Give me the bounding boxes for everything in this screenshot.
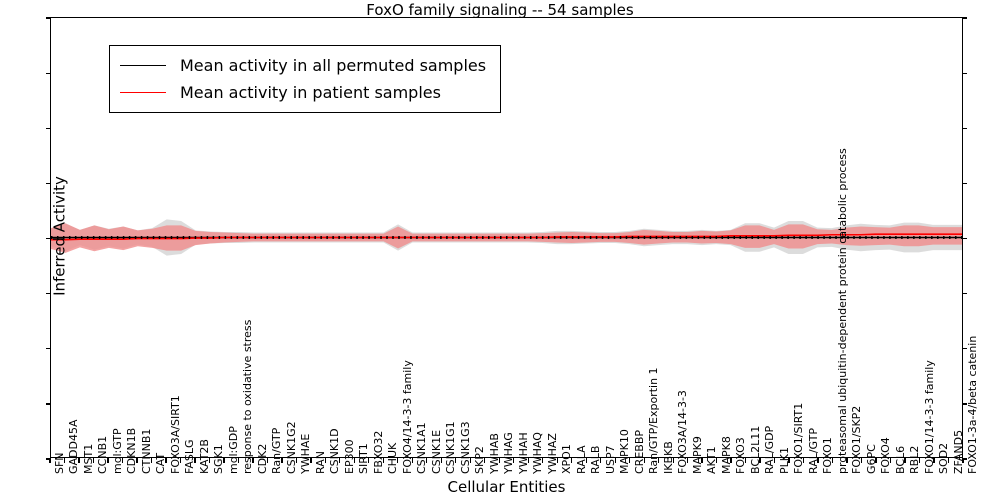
x-tick-label: CSNK1G1 — [445, 421, 456, 474]
legend-label-permuted: Mean activity in all permuted samples — [180, 56, 486, 75]
x-tick-label: YWHAH — [518, 432, 529, 474]
x-tick-mark — [557, 458, 558, 463]
x-tick-mark — [730, 458, 731, 463]
x-tick-mark — [817, 458, 818, 463]
x-tick-mark — [93, 458, 94, 463]
x-tick-mark — [499, 458, 500, 463]
x-tick-mark — [673, 458, 674, 463]
x-tick-label: YWHAG — [503, 432, 514, 474]
x-tick-mark — [788, 458, 789, 463]
x-tick-mark — [136, 458, 137, 463]
x-tick-mark — [209, 458, 210, 463]
x-tick-mark — [310, 458, 311, 463]
x-tick-label: FASLG — [184, 440, 195, 474]
x-tick-label: CSNK1G3 — [460, 421, 471, 474]
x-tick-mark — [426, 458, 427, 463]
x-tick-mark — [325, 458, 326, 463]
x-tick-label: MAPK9 — [692, 436, 703, 474]
x-tick-label: MAPK10 — [619, 429, 630, 474]
x-tick-mark — [296, 458, 297, 463]
x-tick-label: CDKN1B — [126, 428, 137, 474]
y-tick-mark — [962, 183, 967, 184]
x-tick-mark — [64, 458, 65, 463]
x-tick-mark — [846, 458, 847, 463]
y-tick-mark — [46, 348, 51, 349]
y-tick-mark — [962, 293, 967, 294]
x-tick-label: mol:GTP — [112, 428, 123, 474]
x-tick-label: KAT2B — [199, 439, 210, 474]
legend-label-patient: Mean activity in patient samples — [180, 83, 441, 102]
y-tick-mark — [962, 73, 967, 74]
x-tick-mark — [368, 458, 369, 463]
x-tick-mark — [948, 458, 949, 463]
y-tick-mark — [46, 128, 51, 129]
chart-figure: FoxO family signaling -- 54 samples Infe… — [0, 0, 1000, 500]
x-tick-mark — [803, 458, 804, 463]
y-tick-mark — [46, 73, 51, 74]
x-tick-mark — [122, 458, 123, 463]
x-tick-label: FOXO1-3a-4/beta catenin — [967, 336, 978, 474]
x-tick-mark — [962, 458, 963, 463]
x-tick-label: proteasomal ubiquitin-dependent protein … — [837, 148, 848, 474]
x-tick-mark — [180, 458, 181, 463]
x-tick-label: FOXO3 — [735, 437, 746, 474]
x-tick-label: YWHAZ — [547, 433, 558, 474]
x-tick-mark — [832, 458, 833, 463]
x-tick-mark — [571, 458, 572, 463]
legend-item-patient: Mean activity in patient samples — [120, 79, 486, 106]
x-tick-mark — [600, 458, 601, 463]
y-tick-mark — [962, 17, 967, 18]
x-tick-label: FOXO1 — [822, 437, 833, 474]
x-tick-label: FOXO4/14-3-3 family — [402, 360, 413, 474]
x-tick-mark — [194, 458, 195, 463]
x-tick-mark — [412, 458, 413, 463]
x-tick-label: YWHAB — [489, 433, 500, 474]
x-tick-label: CREBBP — [634, 430, 645, 474]
y-tick-mark — [46, 293, 51, 294]
x-tick-label: CCNB1 — [97, 436, 108, 474]
x-tick-mark — [629, 458, 630, 463]
x-tick-label: FOXO1/14-3-3 family — [924, 360, 935, 474]
x-tick-label: RAL/GTP — [808, 428, 819, 474]
x-tick-mark — [513, 458, 514, 463]
x-tick-label: ZFAND5 — [953, 430, 964, 474]
x-tick-mark — [687, 458, 688, 463]
y-tick-mark — [46, 403, 51, 404]
x-tick-mark — [49, 458, 50, 463]
x-tick-label: YWHAE — [300, 434, 311, 474]
x-tick-mark — [528, 458, 529, 463]
legend-swatch-patient — [120, 92, 166, 94]
y-tick-mark — [962, 238, 967, 239]
x-tick-mark — [383, 458, 384, 463]
y-tick-mark — [962, 128, 967, 129]
x-tick-label: SFN — [54, 452, 65, 474]
x-tick-mark — [252, 458, 253, 463]
chart-title: FoxO family signaling -- 54 samples — [0, 2, 1000, 18]
x-tick-mark — [644, 458, 645, 463]
x-tick-mark — [615, 458, 616, 463]
x-tick-label: FOXO1/SIRT1 — [793, 403, 804, 474]
x-tick-mark — [875, 458, 876, 463]
x-tick-mark — [658, 458, 659, 463]
x-tick-label: CSNK1A1 — [416, 422, 427, 474]
x-tick-label: GADD45A — [68, 419, 79, 474]
y-tick-mark — [46, 183, 51, 184]
x-tick-mark — [586, 458, 587, 463]
x-tick-mark — [774, 458, 775, 463]
x-axis-label: Cellular Entities — [50, 478, 963, 496]
x-tick-mark — [919, 458, 920, 463]
x-tick-label: BCL2L11 — [750, 426, 761, 474]
x-tick-mark — [238, 458, 239, 463]
x-tick-mark — [397, 458, 398, 463]
x-tick-mark — [759, 458, 760, 463]
x-tick-mark — [861, 458, 862, 463]
y-axis-label: Inferred Activity — [51, 16, 69, 457]
x-tick-label: CSNK1G2 — [286, 421, 297, 474]
x-tick-label: mol:GDP — [228, 426, 239, 474]
y-tick-mark — [46, 17, 51, 18]
legend-swatch-permuted — [120, 65, 166, 67]
x-tick-mark — [542, 458, 543, 463]
x-tick-label: response to oxidative stress — [242, 320, 253, 474]
chart-legend: Mean activity in all permuted samples Me… — [109, 45, 501, 113]
x-tick-label: CSNK1D — [329, 428, 340, 474]
x-tick-mark — [745, 458, 746, 463]
y-tick-mark — [46, 238, 51, 239]
x-tick-mark — [904, 458, 905, 463]
x-tick-mark — [354, 458, 355, 463]
x-tick-label: CTNNB1 — [141, 429, 152, 474]
x-tick-label: FOXO4 — [880, 437, 891, 474]
x-tick-mark — [267, 458, 268, 463]
plot-area: Inferred Activity 43210−1−2−3−4 Mean act… — [50, 17, 963, 458]
x-tick-mark — [339, 458, 340, 463]
x-tick-label: MAPK8 — [721, 436, 732, 474]
x-tick-label: YWHAQ — [532, 432, 543, 474]
x-tick-mark — [78, 458, 79, 463]
x-tick-mark — [890, 458, 891, 463]
x-tick-mark — [701, 458, 702, 463]
x-tick-mark — [281, 458, 282, 463]
x-tick-mark — [455, 458, 456, 463]
x-tick-mark — [933, 458, 934, 463]
x-tick-label: CAT — [155, 453, 166, 474]
x-tick-label: EP300 — [344, 439, 355, 474]
x-tick-label: RAL/GDP — [764, 426, 775, 474]
legend-item-permuted: Mean activity in all permuted samples — [120, 52, 486, 79]
x-tick-mark — [107, 458, 108, 463]
x-tick-mark — [151, 458, 152, 463]
x-tick-label: Ran/GTP — [271, 428, 282, 474]
x-tick-mark — [716, 458, 717, 463]
x-tick-mark — [470, 458, 471, 463]
x-tick-mark — [484, 458, 485, 463]
x-tick-label: CSNK1E — [431, 430, 442, 474]
x-tick-mark — [165, 458, 166, 463]
x-tick-mark — [441, 458, 442, 463]
x-tick-mark — [223, 458, 224, 463]
x-tick-label: FBXO32 — [373, 431, 384, 474]
x-tick-label: FOXO1/SKP2 — [851, 406, 862, 474]
